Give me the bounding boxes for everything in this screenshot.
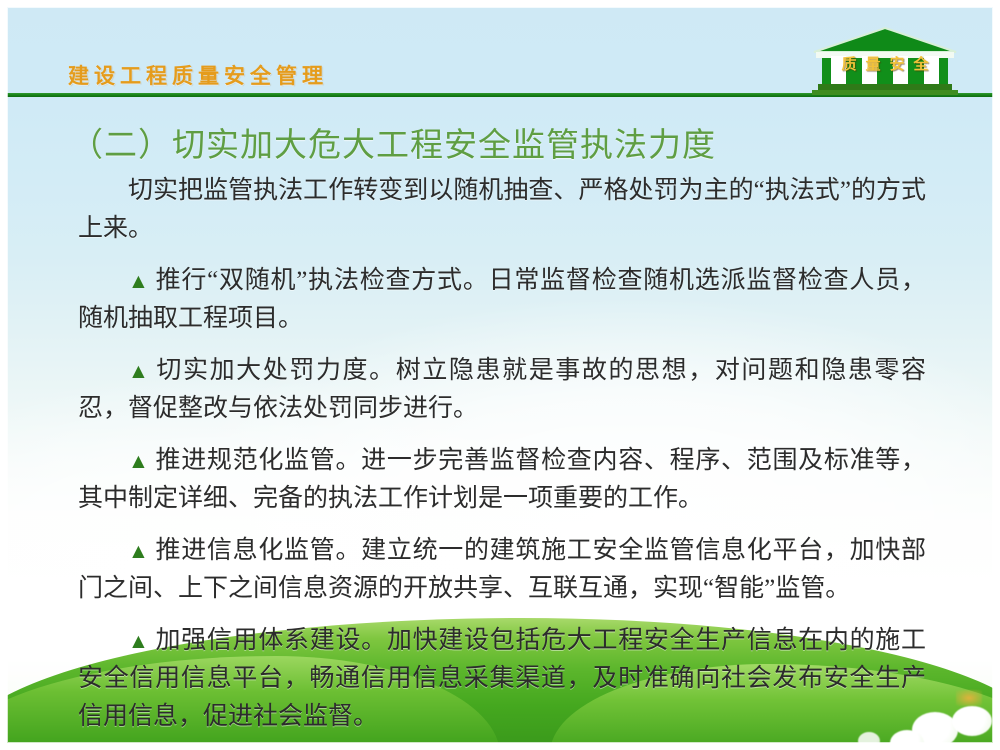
bullet-item-text: 推进规范化监管。进一步完善监督检查内容、程序、范围及标准等，其中制定详细、完备的… (78, 447, 926, 512)
bullet-item: ▲推进信息化监管。建立统一的建筑施工安全监管信息化平台，加快部门之间、上下之间信… (78, 532, 926, 608)
bullet-item: ▲切实加大处罚力度。树立隐患就是事故的思想，对问题和隐患零容忍，督促整改与依法处… (78, 352, 926, 428)
flower-decoration (952, 706, 992, 736)
bullet-item-text: 推行“双随机”执法检查方式。日常监督检查随机选派监督检查人员，随机抽取工程项目。 (78, 267, 926, 332)
bullet-item-text: 加强信用体系建设。加快建设包括危大工程安全生产信息在内的施工安全信用信息平台，畅… (78, 627, 926, 730)
triangle-bullet-icon: ▲ (128, 449, 150, 473)
slide: 建设工程质量安全管理 质量安全 （二）切实加大危大工程安全监管执法力度 切实把监… (0, 0, 1000, 750)
bullet-item: ▲推行“双随机”执法检查方式。日常监督检查随机选派监督检查人员，随机抽取工程项目… (78, 262, 926, 338)
bullet-item-text: 切实加大处罚力度。树立隐患就是事故的思想，对问题和隐患零容忍，督促整改与依法处罚… (78, 357, 926, 422)
bullet-item: ▲加强信用体系建设。加快建设包括危大工程安全生产信息在内的施工安全信用信息平台，… (78, 622, 926, 736)
dandelion-decoration (956, 690, 982, 706)
bullet-item: ▲推进规范化监管。进一步完善监督检查内容、程序、范围及标准等，其中制定详细、完备… (78, 442, 926, 518)
header-title: 建设工程质量安全管理 (68, 60, 328, 90)
triangle-bullet-icon: ▲ (128, 359, 150, 383)
classical-building-icon (806, 26, 964, 96)
triangle-bullet-icon: ▲ (128, 269, 150, 293)
logo: 质量安全 (806, 26, 964, 96)
bullet-item-text: 推进信息化监管。建立统一的建筑施工安全监管信息化平台，加快部门之间、上下之间信息… (78, 537, 926, 602)
triangle-bullet-icon: ▲ (128, 629, 150, 653)
intro-paragraph: 切实把监管执法工作转变到以随机抽查、严格处罚为主的“执法式”的方式上来。 (78, 172, 926, 248)
page-title: （二）切实加大危大工程安全监管执法力度 (70, 118, 716, 166)
content-body: 切实把监管执法工作转变到以随机抽查、严格处罚为主的“执法式”的方式上来。 ▲推行… (78, 172, 926, 750)
triangle-bullet-icon: ▲ (128, 539, 150, 563)
